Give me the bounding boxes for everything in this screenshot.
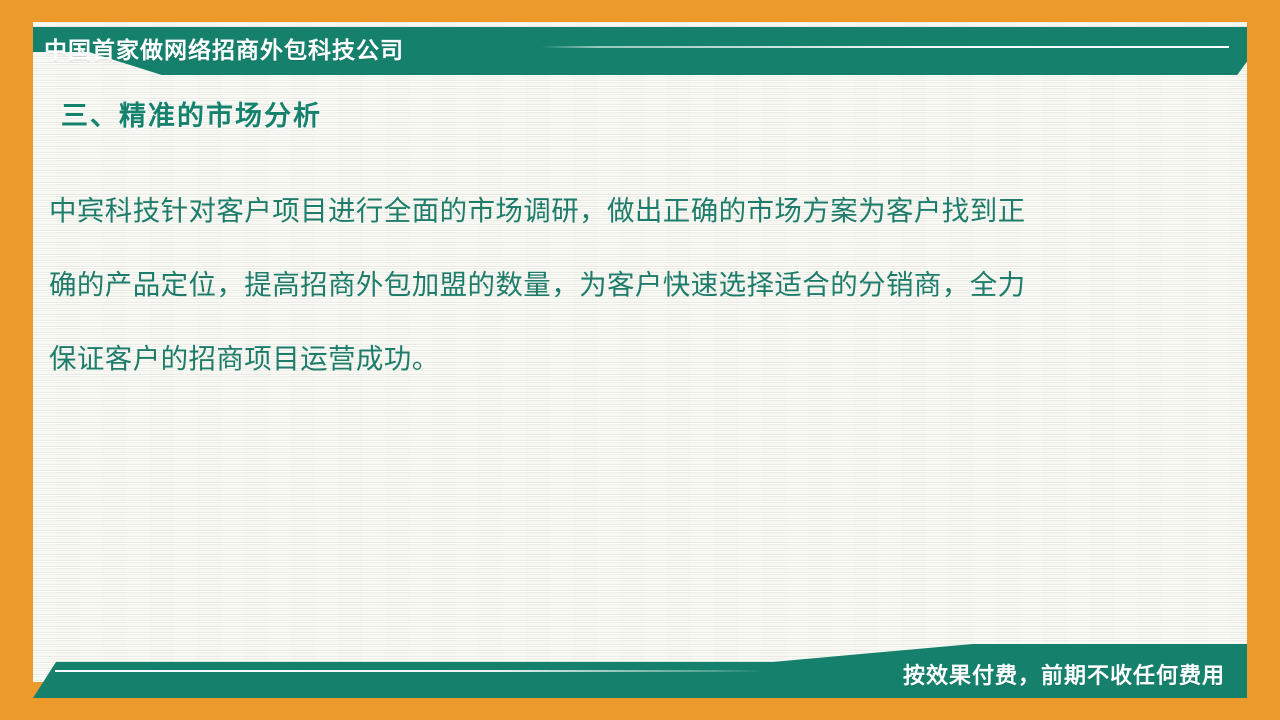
body-paragraph-line: 确的产品定位，提高招商外包加盟的数量，为客户快速选择适合的分销商，全力 bbox=[49, 248, 1189, 322]
section-heading: 三、精准的市场分析 bbox=[61, 100, 1247, 132]
footer-slogan: 按效果付费，前期不收任何费用 bbox=[903, 658, 1225, 690]
header-title: 中国首家做网络招商外包科技公司 bbox=[44, 31, 404, 65]
body-paragraph: 中宾科技针对客户项目进行全面的市场调研，做出正确的市场方案为客户找到正 确的产品… bbox=[49, 174, 1189, 396]
body-paragraph-line: 保证客户的招商项目运营成功。 bbox=[49, 322, 1189, 396]
header-banner: 中国首家做网络招商外包科技公司 bbox=[33, 27, 1247, 75]
header-decorative-rule bbox=[541, 46, 1229, 48]
footer-decorative-rule bbox=[55, 670, 764, 672]
slide-canvas: 中国首家做网络招商外包科技公司 三、精准的市场分析 中宾科技针对客户项目进行全面… bbox=[0, 0, 1280, 720]
body-paragraph-line: 中宾科技针对客户项目进行全面的市场调研，做出正确的市场方案为客户找到正 bbox=[49, 174, 1189, 248]
footer-banner: 按效果付费，前期不收任何费用 bbox=[33, 644, 1247, 698]
slide-content: 三、精准的市场分析 中宾科技针对客户项目进行全面的市场调研，做出正确的市场方案为… bbox=[33, 100, 1247, 396]
